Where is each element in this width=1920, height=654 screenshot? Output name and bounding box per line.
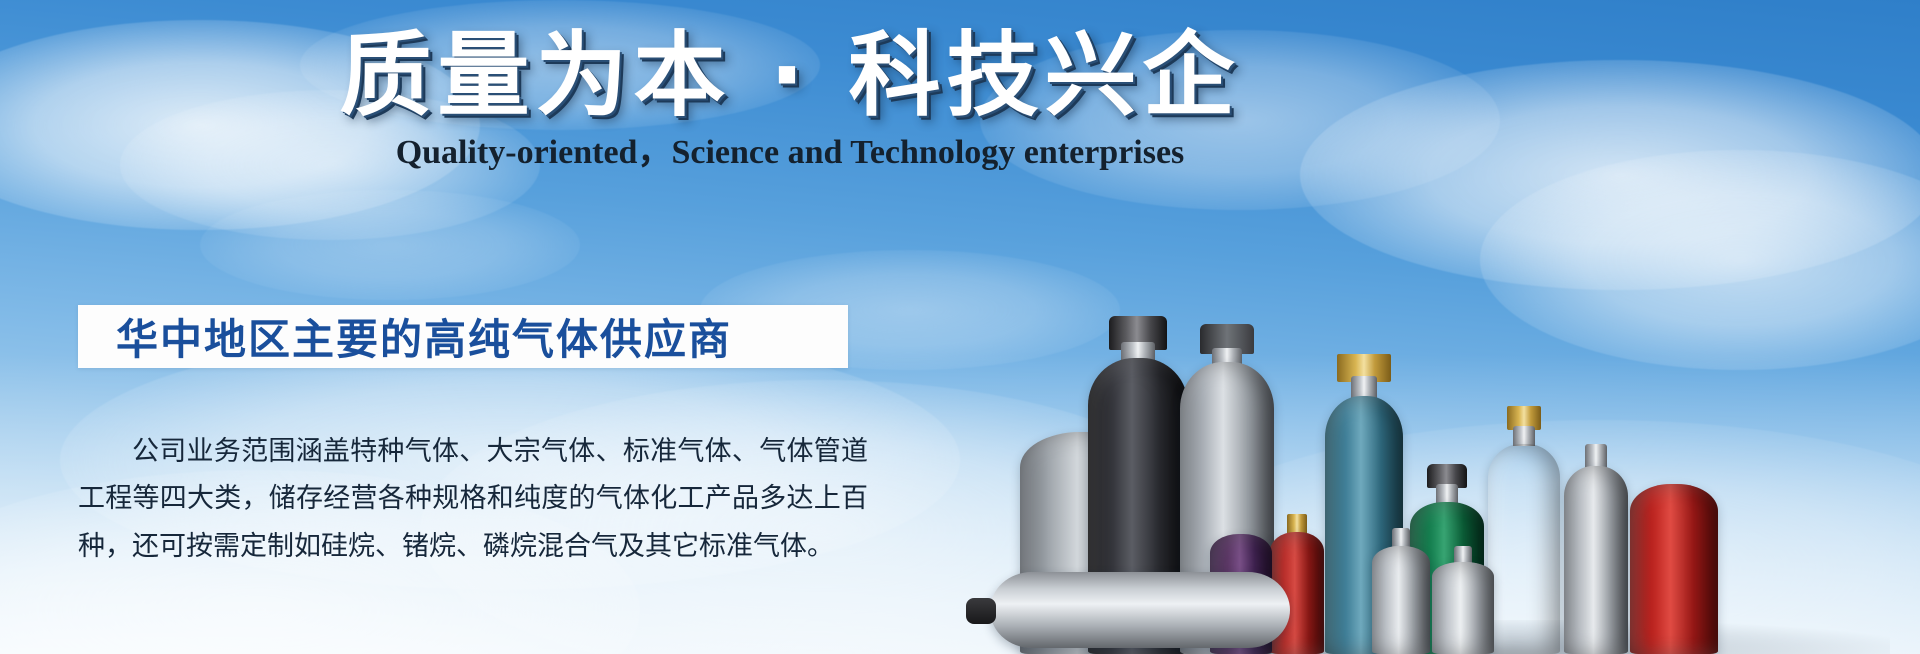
gas-cylinder-lineup: [980, 234, 1920, 654]
tank-valve-knob: [966, 598, 996, 624]
banner-subtitle: Quality-oriented，Science and Technology …: [330, 133, 1250, 174]
tank-horizontal-grey: [990, 572, 1290, 648]
cylinder-neck: [1351, 376, 1377, 398]
cylinder-neck: [1436, 484, 1458, 504]
cylinder-aluminium-slim: [1432, 546, 1494, 654]
promo-banner: 质量为本 · 科技兴企 Quality-oriented，Science and…: [0, 0, 1920, 654]
highlight-box-text: 华中地区主要的高纯气体供应商: [78, 306, 732, 367]
cylinder-body: [1564, 466, 1628, 654]
cylinder-blue-slim: [1488, 406, 1560, 654]
cylinder-body: [1432, 562, 1494, 654]
cylinder-neck: [1392, 528, 1410, 548]
banner-body-copy: 公司业务范围涵盖特种气体、大宗气体、标准气体、气体管道工程等四大类，储存经营各种…: [78, 428, 868, 570]
banner-headline: 质量为本 · 科技兴企: [330, 26, 1250, 125]
cylinder-aluminium-slim: [1564, 444, 1628, 654]
cylinder-neck: [1513, 426, 1535, 446]
highlight-box: 华中地区主要的高纯气体供应商: [78, 305, 848, 368]
cloud-shape: [200, 190, 580, 300]
cylinder-body: [1372, 546, 1430, 654]
cylinder-neck: [1585, 444, 1607, 468]
cylinder-aluminium-slim: [1372, 528, 1430, 654]
cylinder-red-wide: [1630, 484, 1718, 654]
cylinder-body: [1630, 484, 1718, 654]
cylinder-body: [1488, 444, 1560, 654]
